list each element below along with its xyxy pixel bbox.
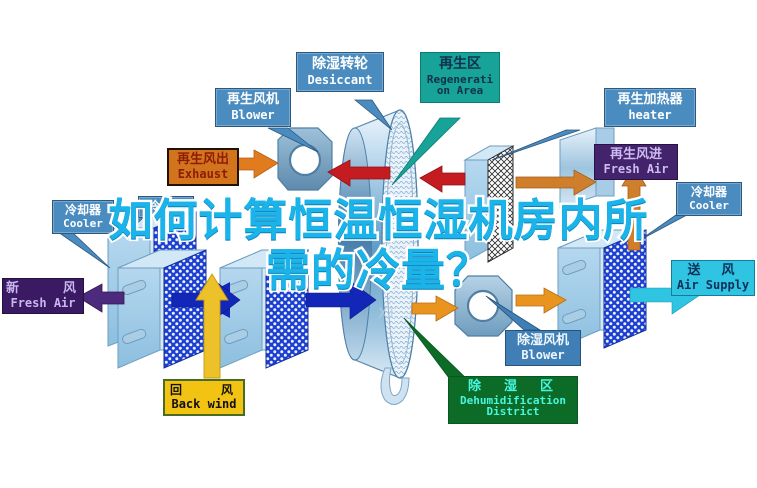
label-exhaust-cn: 再生风出 bbox=[172, 153, 234, 167]
label-exhaust: 再生风出 Exhaust bbox=[167, 148, 239, 186]
label-dehumidification-district-en2: District bbox=[452, 406, 574, 418]
label-regeneration-heater-cn: 再生加热器 bbox=[609, 93, 691, 107]
heater-to-rotor-arrow bbox=[420, 166, 465, 192]
label-dehumidification-blower-cn: 除湿风机 bbox=[509, 334, 577, 348]
label-regeneration-fresh-air: 再生风进 Fresh Air bbox=[594, 144, 678, 180]
label-regeneration-heater: 再生加热器 heater bbox=[604, 88, 696, 127]
label-regeneration-area-en2: on Area bbox=[424, 85, 496, 97]
label-regeneration-blower-cn: 再生风机 bbox=[220, 93, 286, 107]
label-dehumidification-district: 除 湿 区 Dehumidification District bbox=[448, 376, 578, 424]
label-regeneration-heater-en: heater bbox=[609, 109, 691, 122]
label-regeneration-blower-en: Blower bbox=[220, 109, 286, 122]
label-desiccant-wheel-cn: 除湿转轮 bbox=[301, 57, 379, 72]
page-title-line-1: 如何计算恒温恒湿机房内所 bbox=[0, 196, 757, 246]
label-regeneration-fresh-air-en: Fresh Air bbox=[599, 163, 673, 176]
label-exhaust-en: Exhaust bbox=[172, 168, 234, 181]
label-desiccant-wheel: 除湿转轮 Desiccant bbox=[296, 52, 384, 92]
label-regeneration-blower: 再生风机 Blower bbox=[215, 88, 291, 127]
watermark-text: XT bbox=[378, 306, 396, 322]
label-back-wind-en: Back wind bbox=[168, 398, 240, 411]
label-regeneration-fresh-air-cn: 再生风进 bbox=[599, 148, 673, 162]
label-dehumidification-blower-en: Blower bbox=[509, 349, 577, 362]
rotor-to-blower-arrow bbox=[412, 296, 458, 321]
regeneration-blower-unit bbox=[278, 128, 332, 190]
label-dehumidification-district-cn: 除 湿 区 bbox=[452, 380, 574, 394]
label-regeneration-area-cn: 再生区 bbox=[424, 57, 496, 72]
label-dehumidification-blower: 除湿风机 Blower bbox=[505, 330, 581, 366]
dehumidifier-schematic-diagram: XT bbox=[0, 0, 757, 488]
label-back-wind: 回 风 Back wind bbox=[163, 379, 245, 416]
label-regeneration-area: 再生区 Regenerati on Area bbox=[420, 52, 500, 103]
label-desiccant-wheel-en: Desiccant bbox=[301, 74, 379, 87]
label-back-wind-cn: 回 风 bbox=[168, 384, 240, 397]
page-title-overlay: 如何计算恒温恒湿机房内所 需的冷量？ bbox=[0, 196, 757, 296]
label-fresh-air-inlet-en: Fresh Air bbox=[6, 297, 80, 310]
page-title-line-2: 需的冷量？ bbox=[0, 246, 757, 296]
